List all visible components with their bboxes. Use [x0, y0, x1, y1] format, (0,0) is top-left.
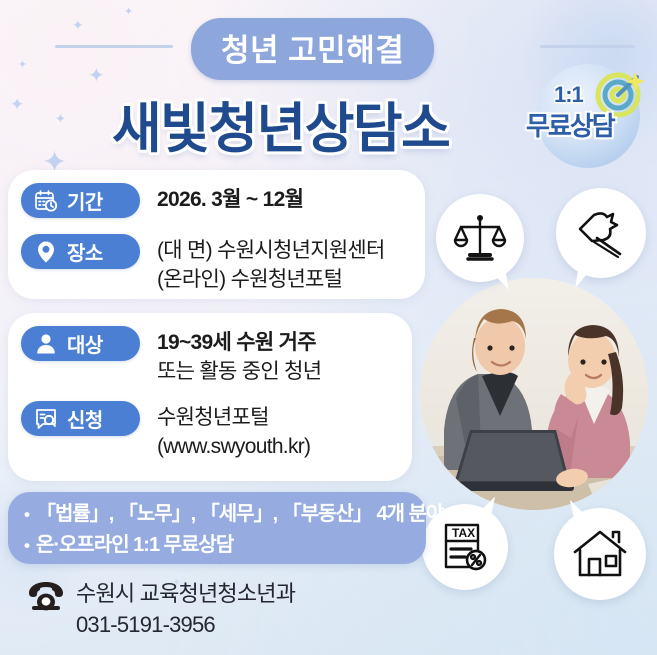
scales-icon	[453, 211, 507, 265]
bullet-text-fields: 「법률」, 「노무」, 「세무」, 「부동산」 4개 분야	[36, 499, 443, 530]
value-period-line1: 2026. 3월 ~ 12월	[157, 186, 303, 215]
value-apply-url: (www.swyouth.kr)	[157, 433, 310, 462]
page-title: 새빛청년상담소	[112, 84, 449, 163]
map-pin-icon	[34, 240, 58, 264]
two-people-with-laptop-illustration	[420, 278, 648, 510]
bubble-law	[436, 194, 524, 282]
header-tag-pill: 청년 고민해결	[191, 18, 434, 80]
label-text-apply: 신청	[67, 404, 103, 433]
schedule-card: 기간 2026. 3월 ~ 12월 장소 (대 면) 수원시청년지원센터 (온라…	[8, 170, 425, 299]
value-location-line2: (온라인) 수원청년포털	[157, 266, 385, 295]
eligibility-card: 대상 19~39세 수원 거주 또는 활동 중인 청년 신청 수원청년포털 (w…	[8, 313, 412, 481]
header-rule-right	[540, 45, 635, 48]
label-pill-location: 장소	[21, 234, 140, 269]
highlights-box: 「법률」, 「노무」, 「세무」, 「부동산」 4개 분야 온·오프라인 1:1…	[8, 492, 426, 564]
footer-department: 수원시 교육청년청소년과	[76, 578, 295, 609]
value-target: 19~39세 수원 거주 또는 활동 중인 청년	[157, 326, 321, 387]
list-item: 「법률」, 「노무」, 「세무」, 「부동산」 4개 분야	[24, 499, 426, 530]
svg-text:TAX: TAX	[452, 526, 475, 540]
value-apply-line1: 수원청년포털	[157, 404, 310, 433]
telephone-icon	[28, 581, 64, 611]
info-row-apply: 신청 수원청년포털 (www.swyouth.kr)	[21, 401, 310, 462]
poster-header: 청년 고민해결 새빛청년상담소 1:1 무료상담	[0, 0, 657, 172]
value-location-line1: (대 면) 수원시청년지원센터	[157, 237, 385, 266]
footer-phone: 031-5191-3956	[76, 609, 295, 640]
bubble-labor	[556, 188, 646, 278]
form-search-icon	[34, 407, 58, 431]
label-pill-period: 기간	[21, 183, 140, 218]
label-text-target: 대상	[67, 329, 103, 358]
badge-label-text: 무료상담	[526, 106, 614, 143]
value-location: (대 면) 수원시청년지원센터 (온라인) 수원청년포털	[157, 234, 385, 295]
badge-ratio-text: 1:1	[554, 82, 583, 108]
list-item: 온·오프라인 1:1 무료상담	[24, 530, 426, 561]
label-text-location: 장소	[67, 237, 103, 266]
label-pill-target: 대상	[21, 326, 140, 361]
label-text-period: 기간	[67, 186, 103, 215]
footer-contact: 수원시 교육청년청소년과 031-5191-3956	[28, 578, 295, 640]
info-row-period: 기간 2026. 3월 ~ 12월	[21, 183, 303, 218]
illustration-cluster: TAX	[408, 186, 657, 616]
tax-document-icon: TAX	[440, 521, 490, 573]
calendar-clock-icon	[34, 189, 58, 213]
value-period: 2026. 3월 ~ 12월	[157, 183, 303, 215]
bubble-realestate	[554, 508, 646, 600]
footer-text: 수원시 교육청년청소년과 031-5191-3956	[76, 578, 295, 640]
person-icon	[34, 332, 58, 356]
value-apply: 수원청년포털 (www.swyouth.kr)	[157, 401, 310, 462]
info-row-location: 장소 (대 면) 수원시청년지원센터 (온라인) 수원청년포털	[21, 234, 385, 295]
value-target-line1: 19~39세 수원 거주	[157, 329, 321, 358]
house-icon	[572, 528, 628, 580]
gavel-icon	[574, 206, 628, 260]
header-rule-left	[55, 45, 173, 48]
value-target-line2: 또는 활동 중인 청년	[157, 358, 321, 387]
bullet-text-channel: 온·오프라인 1:1 무료상담	[36, 530, 233, 561]
free-consultation-badge: 1:1 무료상담	[520, 58, 652, 170]
label-pill-apply: 신청	[21, 401, 140, 436]
info-row-target: 대상 19~39세 수원 거주 또는 활동 중인 청년	[21, 326, 321, 387]
